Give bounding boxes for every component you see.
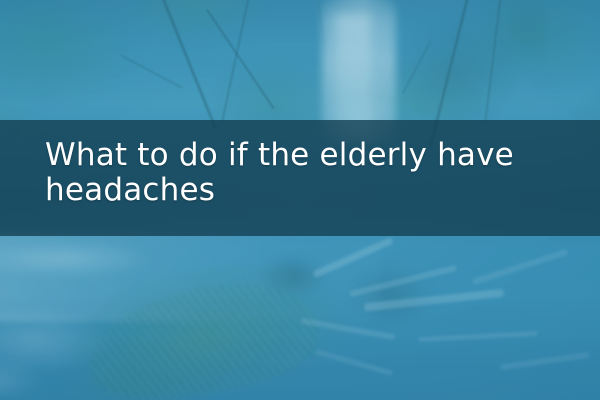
article-hero-image: What to do if the elderly have headaches xyxy=(0,0,600,400)
caption-banner: What to do if the elderly have headaches xyxy=(0,120,600,236)
page-title: What to do if the elderly have headaches xyxy=(45,138,576,208)
